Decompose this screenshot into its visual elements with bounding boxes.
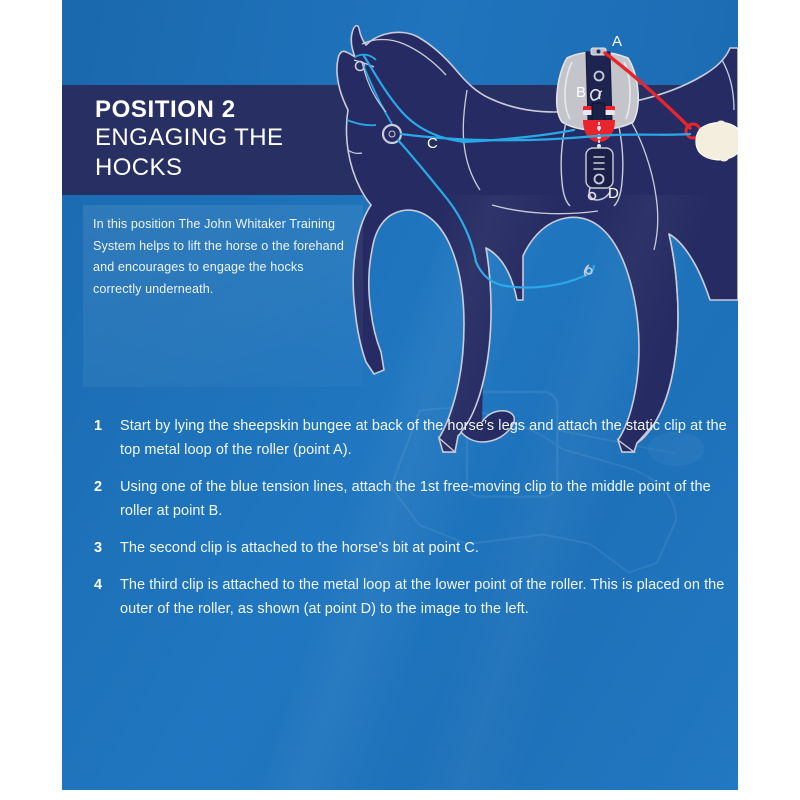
horse-figure [337, 26, 738, 452]
instruction-sheet: A B C D POSITION 2 ENGAGING THE HOCKS In… [0, 0, 800, 800]
step-number: 4 [90, 573, 120, 597]
step-text: Start by lying the sheepskin bungee at b… [120, 414, 730, 462]
caption-text: In this position The John Whitaker Train… [93, 214, 361, 300]
step-text: The third clip is attached to the metal … [120, 573, 730, 621]
title-subject-line-1: ENGAGING THE [95, 123, 395, 153]
content-card: A B C D POSITION 2 ENGAGING THE HOCKS In… [62, 0, 738, 790]
list-item: 3 The second clip is attached to the hor… [90, 536, 730, 560]
caption-line-2: System helps to lift the horse o the for… [93, 236, 361, 258]
lower-buckle-unit [586, 148, 613, 188]
label-a: A [612, 33, 622, 50]
step-number: 1 [90, 414, 120, 438]
step-number: 2 [90, 475, 120, 499]
caption-line-4: correctly underneath. [93, 279, 361, 301]
list-item: 4 The third clip is attached to the meta… [90, 573, 730, 621]
label-b: B [576, 84, 586, 101]
step-text: Using one of the blue tension lines, att… [120, 475, 730, 523]
label-d: D [608, 185, 619, 202]
caption-line-3: and encourages to engage the hocks [93, 257, 361, 279]
caption-line-1: In this position The John Whitaker Train… [93, 214, 361, 236]
title-position-number: POSITION 2 [95, 96, 395, 123]
title-subject-line-2: HOCKS [95, 153, 395, 183]
list-item: 2 Using one of the blue tension lines, a… [90, 475, 730, 523]
step-text: The second clip is attached to the horse… [120, 536, 730, 560]
instruction-steps-list: 1 Start by lying the sheepskin bungee at… [90, 414, 730, 634]
sheepskin-bungee [696, 121, 738, 162]
list-item: 1 Start by lying the sheepskin bungee at… [90, 414, 730, 462]
page-title: POSITION 2 ENGAGING THE HOCKS [95, 96, 395, 183]
label-c: C [427, 135, 438, 152]
step-number: 3 [90, 536, 120, 560]
